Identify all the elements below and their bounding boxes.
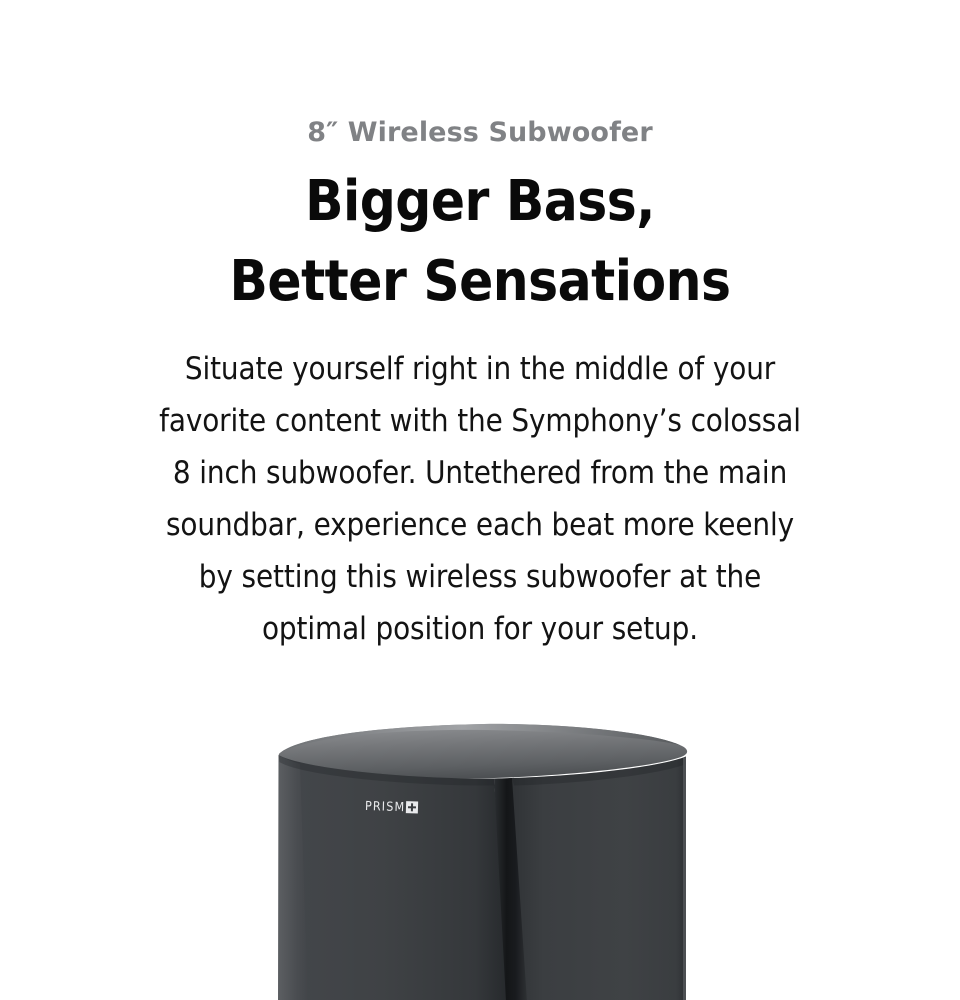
copy-block: 8″ Wireless Subwoofer Bigger Bass, Bette… (0, 0, 960, 655)
headline-line-1: Bigger Bass, (0, 162, 960, 242)
subwoofer-product-image: PRISM (262, 702, 702, 1000)
body-line-5: by setting this wireless subwoofer at th… (0, 551, 960, 603)
product-feature-page: 8″ Wireless Subwoofer Bigger Bass, Bette… (0, 0, 960, 1000)
body-line-6: optimal position for your setup. (0, 603, 960, 655)
subwoofer-right-face (512, 757, 686, 1000)
subwoofer-left-face (278, 755, 510, 1000)
body-paragraph: Situate yourself right in the middle of … (0, 321, 960, 655)
headline-line-2: Better Sensations (0, 242, 960, 322)
product-image-stage: PRISM (0, 690, 960, 1000)
body-line-1: Situate yourself right in the middle of … (0, 343, 960, 395)
page-title: Bigger Bass, Better Sensations (0, 149, 960, 321)
body-line-4: soundbar, experience each beat more keen… (0, 499, 960, 551)
subwoofer-right-edge-highlight (683, 757, 686, 1000)
eyebrow-label: 8″ Wireless Subwoofer (0, 0, 960, 149)
body-line-2: favorite content with the Symphony’s col… (0, 395, 960, 447)
body-line-3: 8 inch subwoofer. Untethered from the ma… (0, 447, 960, 499)
